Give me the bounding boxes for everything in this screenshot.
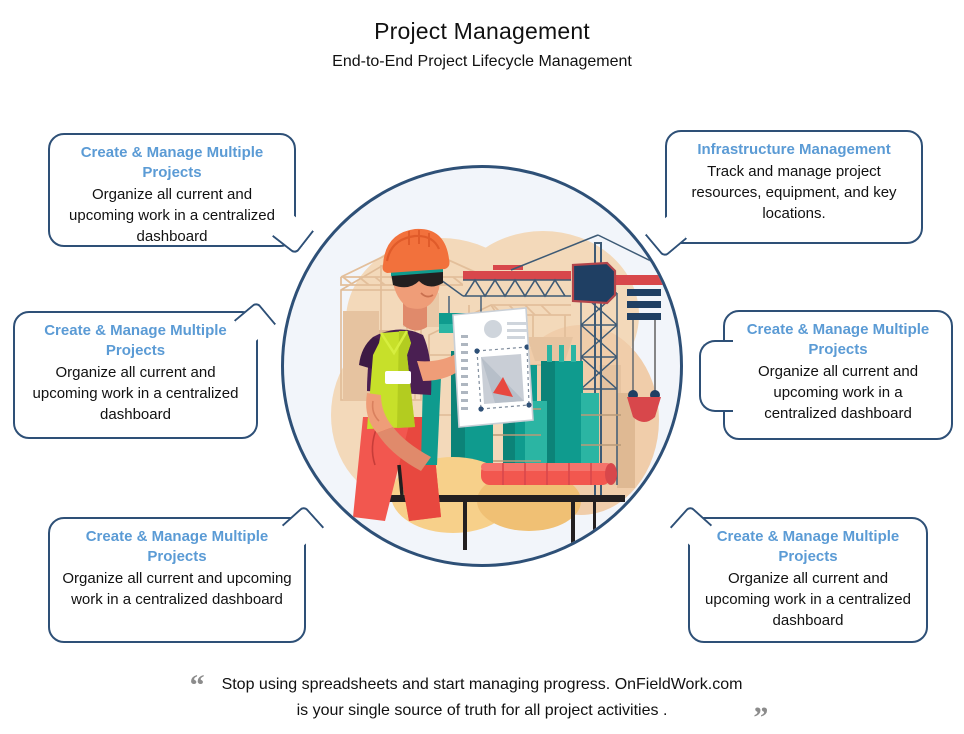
blueprint-paper — [453, 308, 533, 427]
pipe-stack — [481, 463, 617, 485]
tail-mask — [725, 342, 735, 410]
callout-title: Infrastructure Management — [679, 140, 909, 160]
callout-body: Organize all current and upcoming work i… — [62, 184, 282, 247]
callout-body: Organize all current and upcoming work i… — [702, 568, 914, 631]
callout-body: Track and manage project resources, equi… — [679, 161, 909, 224]
callout-create-manage-projects-top-left[interactable]: Create & Manage Multiple Projects Organi… — [48, 133, 296, 247]
callout-title: Create & Manage Multiple Projects — [62, 143, 282, 183]
construction-worker-illustration — [281, 165, 683, 567]
callout-create-manage-projects-mid-left[interactable]: Create & Manage Multiple Projects Organi… — [13, 311, 258, 439]
callout-create-manage-projects-bottom-left[interactable]: Create & Manage Multiple Projects Organi… — [48, 517, 306, 643]
page-subtitle: End-to-End Project Lifecycle Management — [0, 50, 964, 74]
page-title: Project Management — [0, 16, 964, 46]
footer-quote: “ Stop using spreadsheets and start mana… — [0, 672, 964, 724]
callout-body: Organize all current and upcoming work i… — [27, 362, 244, 425]
tail-mask — [692, 529, 708, 553]
callout-infrastructure-management[interactable]: Infrastructure Management Track and mana… — [665, 130, 923, 244]
tail-mask — [238, 325, 254, 349]
quote-line-2: is your single source of truth for all p… — [222, 698, 743, 724]
quote-text-container: “ Stop using spreadsheets and start mana… — [222, 672, 743, 724]
tail-mask — [668, 204, 684, 230]
page-header: Project Management End-to-End Project Li… — [0, 16, 964, 74]
callout-title: Create & Manage Multiple Projects — [27, 321, 244, 361]
callout-create-manage-projects-bottom-right[interactable]: Create & Manage Multiple Projects Organi… — [688, 517, 928, 643]
quote-line-1: Stop using spreadsheets and start managi… — [222, 672, 743, 698]
tail-mask — [286, 529, 302, 553]
callout-title: Create & Manage Multiple Projects — [62, 527, 292, 567]
callout-title: Create & Manage Multiple Projects — [737, 320, 939, 360]
callout-title: Create & Manage Multiple Projects — [702, 527, 914, 567]
callout-create-manage-projects-mid-right[interactable]: Create & Manage Multiple Projects Organi… — [723, 310, 953, 440]
callout-body: Organize all current and upcoming work i… — [737, 361, 939, 424]
callout-body: Organize all current and upcoming work i… — [62, 568, 292, 610]
center-circle-container — [281, 165, 683, 567]
tail-mask — [276, 209, 292, 231]
